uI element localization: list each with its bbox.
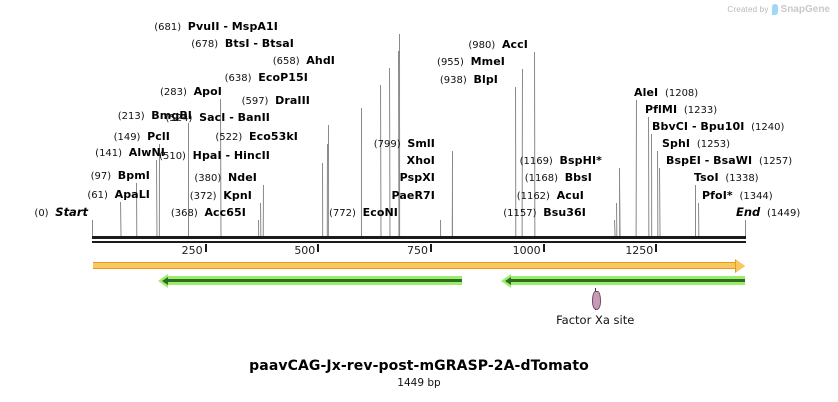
enzyme-label-xhoi: XhoI	[407, 155, 435, 167]
enzyme-position-label: (149)	[114, 132, 141, 143]
green-feature-core-line	[168, 279, 461, 282]
enzyme-label-sphi: SphI (1253)	[662, 138, 730, 150]
enzyme-name-label: BspEI	[666, 154, 701, 167]
enzyme-name-label: PfoI*	[702, 189, 733, 202]
enzyme-position-label: (372)	[190, 191, 217, 202]
enzyme-position-label: (510)	[159, 151, 186, 162]
plasmid-length-label: 1449 bp	[0, 377, 838, 389]
enzyme-label-bspei: BspEI - BsaWI (1257)	[666, 155, 792, 167]
enzyme-label-apoi: (283) ApoI	[160, 86, 222, 98]
enzyme-name-label: PclI	[147, 130, 170, 143]
enzyme-leader-line	[156, 160, 157, 236]
enzyme-label-apali: (61) ApaLI	[87, 189, 150, 201]
enzyme-leader-line	[258, 220, 259, 236]
orange-arrowhead-fill-icon	[736, 260, 745, 272]
enzyme-name-label: Start	[55, 205, 88, 219]
enzyme-name-label: BtsI	[225, 37, 250, 50]
enzyme-name-label: HpaI	[193, 149, 222, 162]
enzyme-position-label: (524)	[166, 113, 193, 124]
enzyme-name-label: AhdI	[306, 54, 335, 67]
enzyme-position-label: (522)	[215, 132, 242, 143]
enzyme-label-econi: (772) EcoNI	[329, 207, 398, 219]
enzyme-name-label: BspHI*	[560, 154, 602, 167]
enzyme-name-label: AccI	[502, 38, 528, 51]
enzyme-leader-line	[657, 151, 658, 236]
enzyme-leader-line	[659, 168, 661, 236]
enzyme-position-label: (1233)	[684, 105, 717, 116]
green-arrowhead-core-icon	[162, 277, 168, 285]
enzyme-name-label-2: BtsaI	[262, 37, 294, 50]
enzyme-leader-line	[619, 168, 620, 236]
enzyme-leader-line	[651, 134, 652, 236]
enzyme-label-mmei: (955) MmeI	[437, 56, 505, 68]
enzyme-position-label: (380)	[194, 173, 221, 184]
enzyme-position-label: (61)	[87, 190, 108, 201]
enzyme-label-bpmi: (97) BpmI	[91, 170, 150, 182]
ruler-tick	[655, 244, 657, 252]
enzyme-name-separator: -	[222, 149, 234, 162]
enzyme-name-label: Bsu36I	[543, 206, 586, 219]
ruler-tick	[430, 244, 432, 252]
enzyme-name-label-2: BanII	[238, 111, 270, 124]
enzyme-leader-line	[322, 163, 323, 236]
enzyme-position-label: (678)	[191, 39, 218, 50]
enzyme-name-label-2: HincII	[234, 149, 270, 162]
ruler-tick	[543, 244, 545, 252]
enzyme-label-pspxi: PspXI	[400, 172, 435, 184]
enzyme-label-bsu36i: (1157) Bsu36I	[503, 207, 586, 219]
enzyme-name-label: NdeI	[228, 171, 257, 184]
enzyme-label-bbvci: BbvCI - Bpu10I (1240)	[652, 121, 784, 133]
enzyme-position-label: (1169)	[520, 156, 553, 167]
enzyme-label-paer7i: PaeR7I	[392, 190, 435, 202]
enzyme-label-pflmi: PflMI (1233)	[645, 104, 717, 116]
ruler-tick	[205, 244, 207, 252]
enzyme-name-label: BbsI	[565, 171, 592, 184]
enzyme-name-label: PvuII	[188, 20, 220, 33]
enzyme-label-eco53ki: (522) Eco53kI	[215, 131, 298, 143]
enzyme-label-pfoi: PfoI* (1344)	[702, 190, 773, 202]
enzyme-position-label: (0)	[34, 208, 48, 219]
enzyme-leader-line	[328, 125, 329, 236]
enzyme-name-label: SacI	[199, 111, 225, 124]
enzyme-name-label: DraIII	[275, 94, 310, 107]
enzyme-label-end: End (1449)	[736, 207, 800, 219]
snapgene-credit: Created by SnapGene	[727, 4, 830, 15]
enzyme-leader-line	[636, 100, 637, 236]
enzyme-label-pcli: (149) PclI	[114, 131, 170, 143]
enzyme-name-separator: -	[688, 120, 700, 133]
enzyme-position-label: (1208)	[665, 88, 698, 99]
enzyme-label-tsoi: TsoI (1338)	[694, 172, 759, 184]
enzyme-label-bsphi: (1169) BspHI*	[520, 155, 602, 167]
enzyme-label-acci: (980) AccI	[468, 39, 528, 51]
enzyme-label-hpai: (510) HpaI - HincII	[159, 150, 270, 162]
enzyme-label-btsi: (678) BtsI - BtsaI	[191, 38, 294, 50]
enzyme-position-label: (597)	[242, 96, 269, 107]
enzyme-position-label: (1168)	[525, 173, 558, 184]
enzyme-name-label: SmlI	[407, 137, 435, 150]
enzyme-position-label: (1240)	[751, 122, 784, 133]
enzyme-position-label: (799)	[374, 139, 401, 150]
ruler-tick-label: 250	[182, 244, 203, 257]
enzyme-name-separator: -	[701, 154, 713, 167]
page-title: paavCAG-Jx-rev-post-mGRASP-2A-dTomato	[0, 358, 838, 374]
enzyme-label-bbsi: (1168) BbsI	[525, 172, 592, 184]
enzyme-name-separator: -	[220, 20, 232, 33]
enzyme-label-start: (0) Start	[34, 207, 88, 219]
ruler-tick	[317, 244, 319, 252]
plasmid-map-canvas: Created by SnapGene (0) Start(61) ApaLI(…	[0, 0, 838, 402]
enzyme-position-label: (1157)	[503, 208, 536, 219]
enzyme-name-label-2: MspA1I	[232, 20, 278, 33]
enzyme-name-label: BbvCI	[652, 120, 688, 133]
snapgene-leaf-icon	[772, 4, 778, 15]
enzyme-leader-line	[616, 203, 617, 236]
enzyme-name-label: PflMI	[645, 103, 677, 116]
enzyme-position-label: (955)	[437, 57, 464, 68]
enzyme-leader-line	[745, 220, 746, 236]
enzyme-position-label: (1449)	[767, 208, 800, 219]
enzyme-position-label: (1162)	[517, 191, 550, 202]
enzyme-label-acc65i: (368) Acc65I	[171, 207, 246, 219]
green-feature-core-line	[511, 279, 744, 282]
enzyme-leader-line	[188, 123, 189, 236]
enzyme-name-label: PaeR7I	[392, 189, 435, 202]
enzyme-position-label: (638)	[225, 73, 252, 84]
enzyme-position-label: (658)	[273, 56, 300, 67]
enzyme-position-label: (1338)	[725, 173, 758, 184]
snapgene-brand-label: SnapGene	[781, 4, 830, 15]
enzyme-name-separator: -	[225, 111, 237, 124]
ruler-tick-label: 750	[407, 244, 428, 257]
ruler-tick-label: 500	[294, 244, 315, 257]
enzyme-name-label: End	[736, 205, 760, 219]
enzyme-position-label: (1253)	[697, 139, 730, 150]
enzyme-name-label: XhoI	[407, 154, 435, 167]
enzyme-label-smli: (799) SmlI	[374, 138, 435, 150]
factor-xa-site-label: Factor Xa site	[556, 313, 634, 327]
ruler-tick-label: 1250	[625, 244, 653, 257]
enzyme-name-label: AcuI	[557, 189, 584, 202]
enzyme-leader-line	[260, 203, 261, 236]
enzyme-label-ahdi: (658) AhdI	[273, 55, 335, 67]
factor-xa-site-marker[interactable]	[592, 291, 601, 310]
enzyme-position-label: (938)	[440, 75, 467, 86]
enzyme-leader-line	[452, 151, 453, 236]
enzyme-name-label: BlpI	[473, 73, 498, 86]
sequence-backbone-top	[92, 236, 746, 239]
enzyme-position-label: (368)	[171, 208, 198, 219]
enzyme-position-label: (1257)	[759, 156, 792, 167]
sequence-backbone-bottom	[92, 241, 746, 243]
enzyme-name-label: MmeI	[471, 55, 505, 68]
enzyme-label-blpi: (938) BlpI	[440, 74, 498, 86]
enzyme-position-label: (141)	[95, 148, 122, 159]
enzyme-name-label: Eco53kI	[249, 130, 298, 143]
enzyme-label-kpni: (372) KpnI	[190, 190, 252, 202]
enzyme-label-draiii: (597) DraIII	[242, 95, 310, 107]
enzyme-position-label: (97)	[91, 171, 112, 182]
enzyme-name-label: TsoI	[694, 171, 719, 184]
enzyme-label-saci: (524) SacI - BanII	[166, 112, 271, 124]
enzyme-position-label: (213)	[118, 111, 145, 122]
orange-feature-arrow	[93, 262, 736, 269]
enzyme-leader-line	[263, 185, 264, 236]
enzyme-name-label: EcoP15I	[258, 71, 308, 84]
enzyme-name-label: AleI	[634, 86, 658, 99]
enzyme-name-label-2: BsaWI	[713, 154, 752, 167]
enzyme-position-label: (772)	[329, 208, 356, 219]
credit-prefix-label: Created by	[727, 5, 768, 14]
enzyme-position-label: (980)	[468, 40, 495, 51]
enzyme-leader-line	[695, 185, 696, 236]
enzyme-leader-line	[698, 203, 699, 236]
enzyme-name-label: ApoI	[194, 85, 222, 98]
enzyme-name-label: ApaLI	[115, 188, 150, 201]
enzyme-label-alei: AleI (1208)	[634, 87, 698, 99]
enzyme-label-pvuii: (681) PvuII - MspA1I	[154, 21, 278, 33]
enzyme-name-separator: -	[250, 37, 262, 50]
enzyme-name-label: SphI	[662, 137, 690, 150]
enzyme-position-label: (1344)	[739, 191, 772, 202]
enzyme-position-label: (681)	[154, 22, 181, 33]
enzyme-position-label: (283)	[160, 87, 187, 98]
enzyme-name-label: KpnI	[223, 189, 252, 202]
enzyme-name-label: BpmI	[118, 169, 150, 182]
enzyme-name-label-2: Bpu10I	[700, 120, 744, 133]
enzyme-leader-line	[120, 202, 122, 236]
enzyme-label-acui: (1162) AcuI	[517, 190, 584, 202]
enzyme-label-alwni: (141) AlwNI	[95, 147, 165, 159]
enzyme-name-label: EcoNI	[363, 206, 398, 219]
green-arrowhead-core-icon	[505, 277, 511, 285]
enzyme-leader-line	[92, 220, 93, 236]
enzyme-leader-line	[399, 34, 400, 236]
enzyme-label-ndei: (380) NdeI	[194, 172, 257, 184]
enzyme-leader-line	[440, 220, 441, 236]
enzyme-label-ecop15i: (638) EcoP15I	[225, 72, 308, 84]
ruler-tick-label: 1000	[513, 244, 541, 257]
enzyme-name-label: PspXI	[400, 171, 435, 184]
enzyme-leader-line	[648, 117, 649, 236]
enzyme-name-label: Acc65I	[204, 206, 246, 219]
